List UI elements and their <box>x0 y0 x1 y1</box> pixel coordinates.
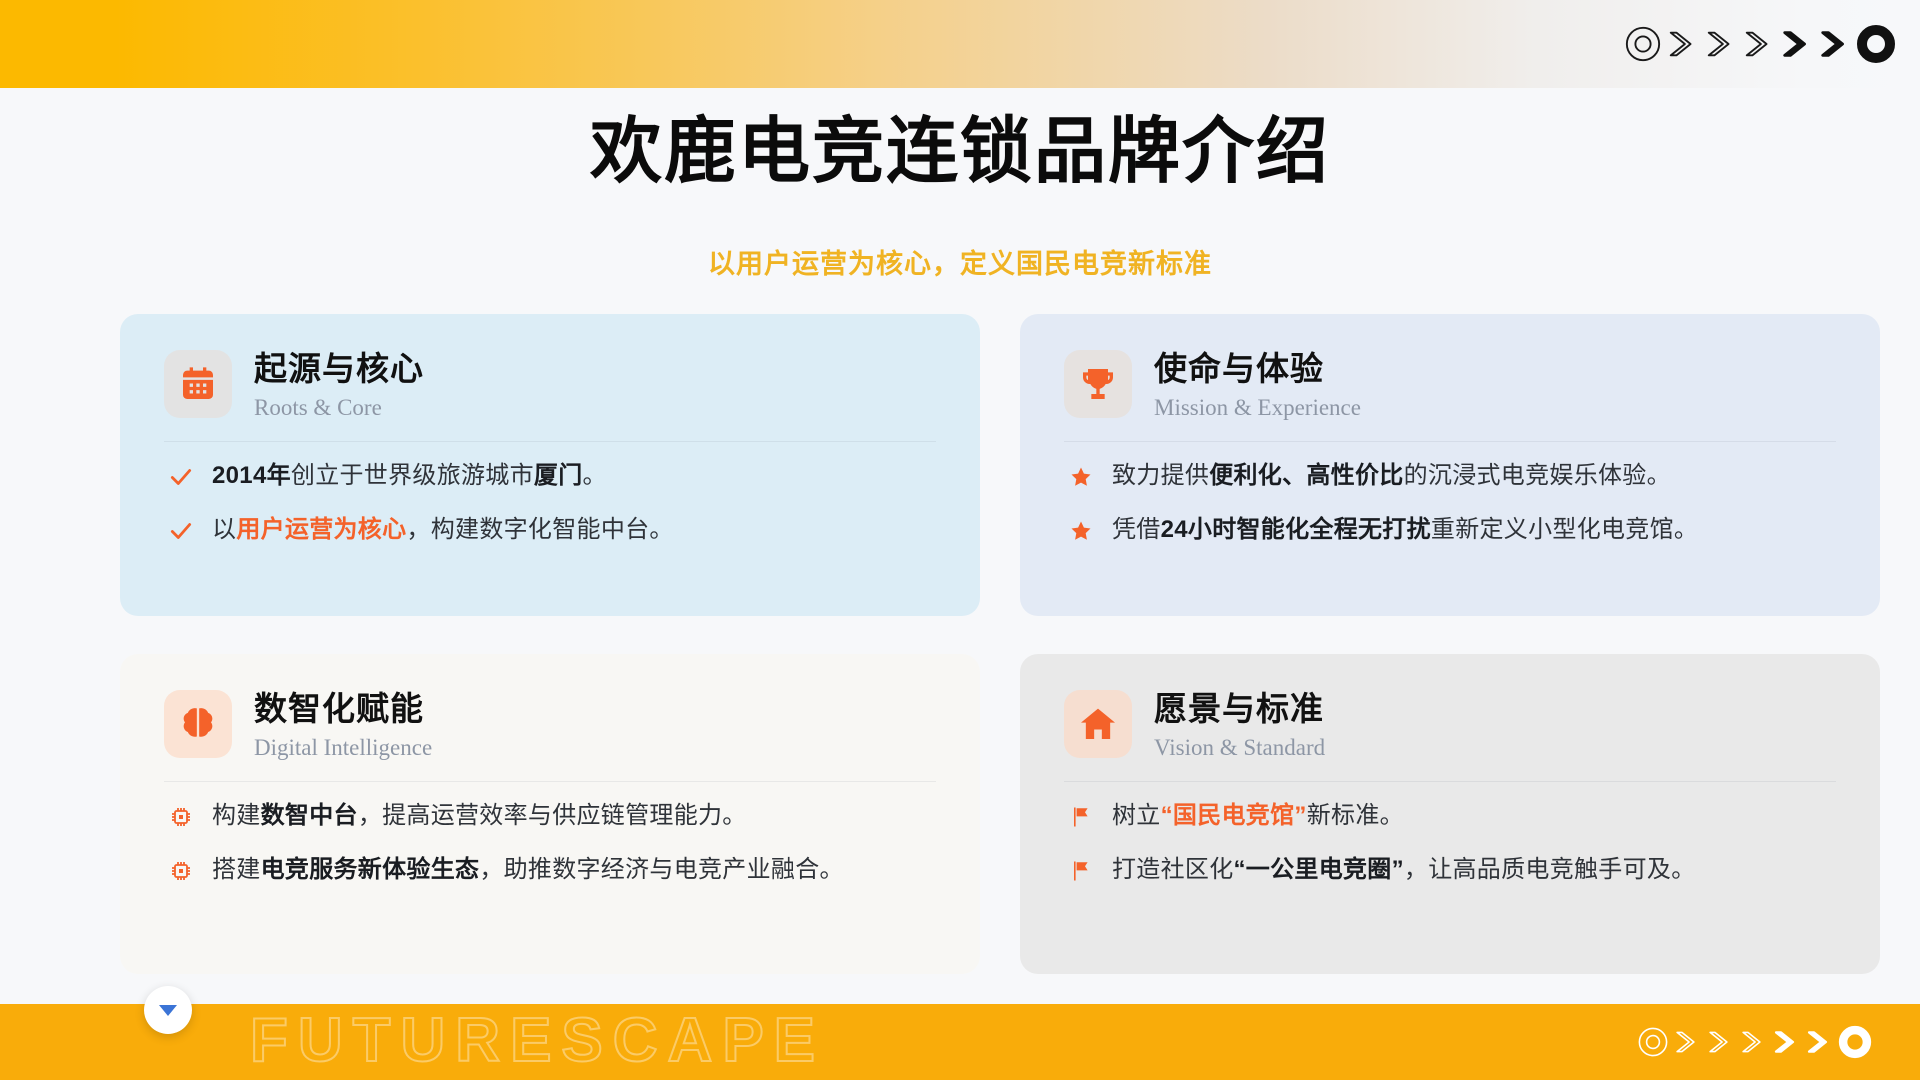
arrow-outline-icon <box>1666 25 1700 63</box>
trophy-icon <box>1064 350 1132 418</box>
card-bullets: 树立“国民电竞馆”新标准。打造社区化“一公里电竞圈”，让高品质电竞触手可及。 <box>1064 800 1836 886</box>
flag-icon <box>1068 802 1094 832</box>
card-vision-standard[interactable]: 愿景与标准 Vision & Standard 树立“国民电竞馆”新标准。打造社… <box>1020 654 1880 974</box>
scroll-down-button[interactable] <box>144 986 192 1034</box>
card-divider <box>164 441 936 442</box>
bullet-text: 致力提供便利化、高性价比的沉浸式电竞娱乐体验。 <box>1112 460 1671 491</box>
arrow-outline-icon <box>1739 1026 1768 1058</box>
bullet-item: 2014年创立于世界级旅游城市厦门。 <box>168 460 936 492</box>
circle-outline-icon <box>1624 25 1662 63</box>
chip-icon <box>168 802 194 832</box>
card-divider <box>1064 781 1836 782</box>
bullet-text: 2014年创立于世界级旅游城市厦门。 <box>212 460 607 491</box>
card-subtitle: Mission & Experience <box>1154 392 1361 423</box>
card-bullets: 构建数智中台，提高运营效率与供应链管理能力。搭建电竞服务新体验生态，助推数字经济… <box>164 800 936 886</box>
cards-grid: 起源与核心 Roots & Core 2014年创立于世界级旅游城市厦门。以用户… <box>120 314 1800 976</box>
header-icon-sequence <box>1624 24 1896 64</box>
circle-solid-icon <box>1838 1025 1872 1059</box>
card-title-group: 愿景与标准 Vision & Standard <box>1154 688 1325 763</box>
arrow-solid-icon <box>1805 1026 1834 1058</box>
card-header: 愿景与标准 Vision & Standard <box>1064 688 1836 779</box>
bullet-text: 搭建电竞服务新体验生态，助推数字经济与电竞产业融合。 <box>212 854 844 885</box>
card-title-group: 使命与体验 Mission & Experience <box>1154 348 1361 423</box>
star-icon <box>1068 462 1094 492</box>
calendar-icon <box>164 350 232 418</box>
bullet-text: 树立“国民电竞馆”新标准。 <box>1112 800 1404 831</box>
bullet-text: 构建数智中台，提高运营效率与供应链管理能力。 <box>212 800 747 831</box>
bullet-item: 致力提供便利化、高性价比的沉浸式电竞娱乐体验。 <box>1068 460 1836 492</box>
arrow-outline-icon <box>1673 1026 1702 1058</box>
card-mission-experience[interactable]: 使命与体验 Mission & Experience 致力提供便利化、高性价比的… <box>1020 314 1880 616</box>
top-gradient-bar <box>0 0 1920 88</box>
arrow-solid-icon <box>1818 25 1852 63</box>
page-title: 欢鹿电竞连锁品牌介绍 <box>0 112 1920 193</box>
card-title: 使命与体验 <box>1154 348 1361 390</box>
flag-icon <box>1068 856 1094 886</box>
page-subtitle: 以用户运营为核心，定义国民电竞新标准 <box>0 242 1920 281</box>
bullet-text: 打造社区化“一公里电竞圈”，让高品质电竞触手可及。 <box>1112 854 1696 885</box>
star-icon <box>1068 516 1094 546</box>
arrow-outline-icon <box>1742 25 1776 63</box>
chevron-down-icon <box>159 1005 177 1016</box>
bullet-item: 搭建电竞服务新体验生态，助推数字经济与电竞产业融合。 <box>168 854 936 886</box>
arrow-solid-icon <box>1772 1026 1801 1058</box>
card-bullets: 致力提供便利化、高性价比的沉浸式电竞娱乐体验。凭借24小时智能化全程无打扰重新定… <box>1064 460 1836 546</box>
card-title: 愿景与标准 <box>1154 688 1325 730</box>
card-title-group: 数智化赋能 Digital Intelligence <box>254 688 432 763</box>
card-bullets: 2014年创立于世界级旅游城市厦门。以用户运营为核心，构建数字化智能中台。 <box>164 460 936 546</box>
bullet-item: 打造社区化“一公里电竞圈”，让高品质电竞触手可及。 <box>1068 854 1836 886</box>
bullet-item: 以用户运营为核心，构建数字化智能中台。 <box>168 514 936 546</box>
circle-solid-icon <box>1856 24 1896 64</box>
bullet-item: 凭借24小时智能化全程无打扰重新定义小型化电竞馆。 <box>1068 514 1836 546</box>
card-title: 数智化赋能 <box>254 688 432 730</box>
card-divider <box>1064 441 1836 442</box>
arrow-outline-icon <box>1704 25 1738 63</box>
card-digital-intelligence[interactable]: 数智化赋能 Digital Intelligence 构建数智中台，提高运营效率… <box>120 654 980 974</box>
bullet-text: 以用户运营为核心，构建数字化智能中台。 <box>212 514 674 545</box>
bullet-text: 凭借24小时智能化全程无打扰重新定义小型化电竞馆。 <box>1112 514 1698 545</box>
arrow-solid-icon <box>1780 25 1814 63</box>
card-header: 数智化赋能 Digital Intelligence <box>164 688 936 779</box>
bullet-item: 构建数智中台，提高运营效率与供应链管理能力。 <box>168 800 936 832</box>
circle-outline-icon <box>1637 1026 1669 1058</box>
card-subtitle: Roots & Core <box>254 392 424 423</box>
chip-icon <box>168 856 194 886</box>
check-icon <box>168 516 194 546</box>
card-header: 使命与体验 Mission & Experience <box>1064 348 1836 439</box>
card-roots-core[interactable]: 起源与核心 Roots & Core 2014年创立于世界级旅游城市厦门。以用户… <box>120 314 980 616</box>
home-icon <box>1064 690 1132 758</box>
check-icon <box>168 462 194 492</box>
card-title: 起源与核心 <box>254 348 424 390</box>
card-subtitle: Vision & Standard <box>1154 732 1325 763</box>
card-divider <box>164 781 936 782</box>
card-subtitle: Digital Intelligence <box>254 732 432 763</box>
footer-icon-sequence <box>1637 1025 1872 1059</box>
slide-root: 欢鹿电竞连锁品牌介绍 以用户运营为核心，定义国民电竞新标准 起源与核心 Root… <box>0 0 1920 1080</box>
brain-icon <box>164 690 232 758</box>
card-title-group: 起源与核心 Roots & Core <box>254 348 424 423</box>
card-header: 起源与核心 Roots & Core <box>164 348 936 439</box>
arrow-outline-icon <box>1706 1026 1735 1058</box>
bullet-item: 树立“国民电竞馆”新标准。 <box>1068 800 1836 832</box>
footer-bar: FUTURESCAPE <box>0 1004 1920 1080</box>
footer-wordmark: FUTURESCAPE <box>250 1005 825 1076</box>
